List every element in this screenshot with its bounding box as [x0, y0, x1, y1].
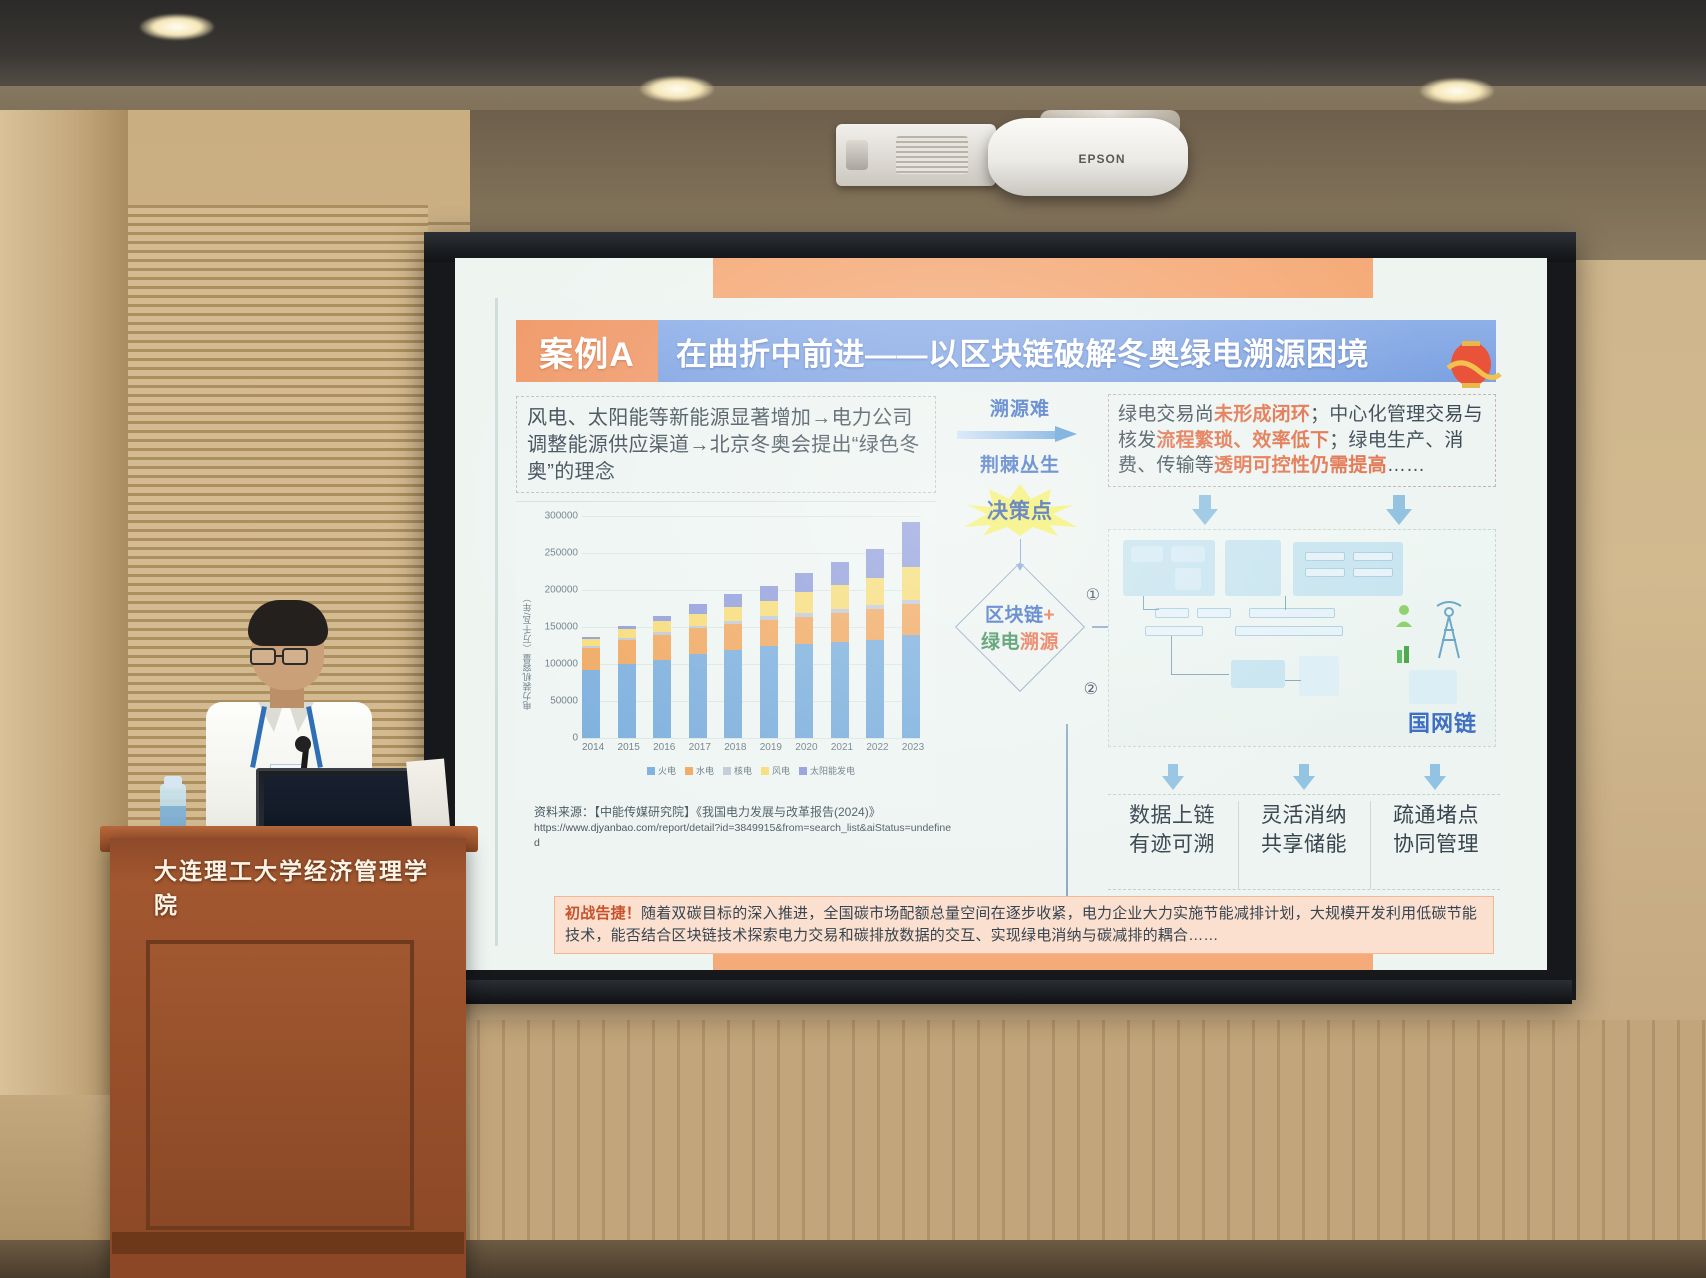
bar-column	[902, 522, 920, 738]
x-tick: 2016	[653, 742, 671, 753]
bar-segment	[902, 567, 920, 600]
outcome-down-arrows	[1108, 764, 1500, 790]
bar-segment	[618, 640, 636, 664]
bar-column	[831, 562, 849, 738]
divider	[1238, 801, 1239, 889]
x-tick: 2018	[724, 742, 742, 753]
legend-label: 核电	[734, 764, 752, 777]
bar-segment	[689, 628, 707, 653]
bar-segment	[760, 601, 778, 617]
podium-base	[112, 1232, 464, 1254]
x-tick: 2020	[795, 742, 813, 753]
blockchain-architecture-diagram: 国网链	[1108, 529, 1496, 747]
problem-statement-box: 绿电交易尚未形成闭环；中心化管理交易与核发流程繁琐、效率低下；绿电生产、消费、传…	[1108, 394, 1496, 487]
projector-brand-label: EPSON	[1072, 152, 1132, 166]
x-tick: 2019	[760, 742, 778, 753]
branch-number-2: ②	[1084, 679, 1098, 699]
diamond-blockchain-text: 区块链	[985, 605, 1044, 626]
bar-segment	[902, 604, 920, 635]
y-tick: 300000	[545, 511, 578, 522]
legend-item: 水电	[685, 764, 714, 777]
decision-point-star: 决策点	[953, 483, 1087, 537]
bar-segment	[689, 614, 707, 626]
outcome-line-2: 共享储能	[1240, 830, 1368, 859]
bar-column	[760, 586, 778, 738]
diamond-green-power-text: 绿电	[981, 632, 1020, 653]
arrow-down-icon	[1192, 495, 1218, 525]
diamond-line-1: 区块链+	[985, 600, 1055, 627]
bar-segment	[689, 654, 707, 738]
bar-segment	[582, 648, 600, 670]
legend-item: 太阳能发电	[799, 764, 855, 777]
bar-segment	[902, 522, 920, 567]
flow-label-trace-difficulty: 溯源难	[946, 394, 1094, 421]
footer-highlight-note: 初战告捷！随着双碳目标的深入推进，全国碳市场配额总量空间在逐步收紧，电力企业大力…	[554, 896, 1494, 954]
diagram-block	[1409, 670, 1457, 704]
problem-highlight-a: 未形成闭环	[1214, 404, 1310, 425]
legend-label: 火电	[658, 764, 676, 777]
state-grid-chain-label: 国网链	[1408, 706, 1477, 738]
diamond-plus: +	[1043, 605, 1055, 626]
arrow-down-icon	[1162, 764, 1184, 790]
footer-body: 随着双碳目标的深入推进，全国碳市场配额总量空间在逐步收紧，电力企业大力实施节能减…	[565, 905, 1477, 944]
bar-segment	[582, 639, 600, 646]
source-line-1: 资料来源：【中能传媒研究院】《我国电力发展与改革报告(2024)》	[534, 804, 954, 821]
x-tick: 2023	[902, 742, 920, 753]
outcome-line-1: 疏通堵点	[1372, 801, 1500, 830]
bar-segment	[724, 607, 742, 621]
slide-right-column: 绿电交易尚未形成闭环；中心化管理交易与核发流程繁琐、效率低下；绿电生产、消费、传…	[1108, 394, 1496, 747]
source-line-2: https://www.djyanbao.com/report/detail?i…	[534, 821, 954, 851]
bar-segment	[724, 624, 742, 650]
power-capacity-chart: 电力装机容量（万千瓦/年） 300000 250000 200000	[516, 501, 936, 801]
eyeglasses-left-lens	[250, 648, 276, 665]
outcome-cell: 疏通堵点 协同管理	[1372, 801, 1500, 889]
y-tick: 250000	[545, 548, 578, 559]
outcome-line-2: 协同管理	[1372, 830, 1500, 859]
legend-item: 火电	[647, 764, 676, 777]
bar-column	[582, 637, 600, 738]
outcome-cell: 数据上链 有迹可溯	[1108, 801, 1236, 889]
bar-segment	[582, 670, 600, 738]
bar-column	[795, 573, 813, 738]
bottle-cap	[164, 776, 182, 788]
bar-segment	[866, 640, 884, 738]
chart-legend: 火电水电核电风电太阳能发电	[582, 764, 920, 777]
diagram-block	[1131, 546, 1163, 562]
y-tick: 200000	[545, 585, 578, 596]
bar-segment	[760, 646, 778, 738]
slide-title: 在曲折中前进——以区块链破解冬奥绿电溯源困境	[658, 320, 1496, 382]
legend-swatch	[685, 767, 693, 775]
arrow-down-icon	[1293, 764, 1315, 790]
outcome-line-1: 灵活消纳	[1240, 801, 1368, 830]
bar-segment	[653, 621, 671, 632]
projection-screen: 案例A 在曲折中前进——以区块链破解冬奥绿电溯源困境 风电、太阳能等新能源显著增…	[455, 258, 1547, 970]
bar-segment	[724, 650, 742, 738]
x-tick: 2022	[866, 742, 884, 753]
y-tick: 50000	[550, 696, 578, 707]
y-tick: 0	[572, 733, 578, 744]
bar-segment	[902, 635, 920, 738]
bar-column	[866, 549, 884, 738]
user-icon	[1395, 604, 1411, 626]
slide-left-column: 风电、太阳能等新能源显著增加→电力公司调整能源供应渠道→北京冬奥会提出“绿色冬奥…	[516, 396, 936, 801]
bar-segment	[866, 549, 884, 578]
bar-column	[689, 604, 707, 738]
conference-room-photo: EPSON 案例A 在曲折中前进——以区块链破解冬奥绿电溯源困境	[0, 0, 1706, 1278]
lantern-decoration	[1440, 338, 1502, 402]
diagram-block	[1299, 656, 1339, 696]
diamond-trace-text: 溯源	[1020, 632, 1059, 653]
decision-point-label: 决策点	[987, 495, 1053, 525]
problem-highlight-b: 流程繁琐、效率低下	[1156, 430, 1329, 451]
diagram-block	[1175, 568, 1201, 590]
projector-lens	[846, 140, 868, 170]
y-tick: 150000	[545, 622, 578, 633]
x-tick: 2021	[831, 742, 849, 753]
bar-segment	[724, 594, 742, 607]
legend-item: 风电	[761, 764, 790, 777]
arrow-down-icon	[1386, 495, 1412, 525]
y-tick: 100000	[545, 659, 578, 670]
chart-plot-area: 300000 250000 200000 150000 100000 50000…	[582, 516, 920, 738]
ceiling-light	[640, 76, 714, 102]
bar-segment	[653, 635, 671, 660]
diamond-line-2: 绿电溯源	[981, 627, 1059, 654]
diagram-block	[1171, 546, 1205, 562]
source-citation: 资料来源：【中能传媒研究院】《我国电力发展与改革报告(2024)》 https:…	[534, 804, 954, 851]
ceiling-light	[1420, 78, 1494, 104]
presentation-slide: 案例A 在曲折中前进——以区块链破解冬奥绿电溯源困境 风电、太阳能等新能源显著增…	[455, 258, 1547, 970]
arrow-down-icon	[1424, 764, 1446, 790]
x-tick: 2014	[582, 742, 600, 753]
problem-highlight-c: 透明可控性仍需提高	[1214, 455, 1387, 476]
bar-column	[653, 616, 671, 738]
microphone-head	[295, 736, 311, 752]
eyeglasses-right-lens	[282, 648, 308, 665]
ceiling-light	[140, 14, 214, 40]
bar-segment	[831, 562, 849, 585]
intro-text-box: 风电、太阳能等新能源显著增加→电力公司调整能源供应渠道→北京冬奥会提出“绿色冬奥…	[516, 396, 936, 493]
legend-swatch	[647, 767, 655, 775]
divider	[1370, 801, 1371, 889]
legend-label: 太阳能发电	[810, 764, 855, 777]
bar-segment	[618, 629, 636, 639]
legend-swatch	[799, 767, 807, 775]
outcome-line-1: 数据上链	[1108, 801, 1236, 830]
diagram-block	[1225, 540, 1281, 596]
bar-segment	[689, 604, 707, 614]
bottle-label	[160, 806, 186, 826]
factory-icon	[1395, 642, 1411, 664]
diagram-block	[1231, 660, 1285, 688]
bar-segment	[866, 609, 884, 640]
bar-segment	[831, 613, 849, 642]
antenna-tower-icon	[1427, 600, 1471, 665]
bar-segment	[795, 592, 813, 613]
flow-right-arrow-icon	[957, 427, 1083, 442]
outcome-cell: 灵活消纳 共享储能	[1240, 801, 1368, 889]
legend-label: 水电	[696, 764, 714, 777]
problem-text-d: ……	[1387, 455, 1425, 476]
bar-segment	[866, 578, 884, 605]
decision-diamond: 区块链+ 绿电溯源 ① ②	[946, 571, 1094, 683]
outcomes-row: 数据上链 有迹可溯 灵活消纳 共享储能 疏通堵点 协同管理	[1108, 794, 1500, 890]
legend-swatch	[761, 767, 769, 775]
slide-middle-flow: 溯源难 荆棘丛生 决策点 区块	[946, 394, 1094, 794]
outcome-line-2: 有迹可溯	[1108, 830, 1236, 859]
footer-lead: 初战告捷！	[565, 905, 641, 922]
bar-segment	[653, 660, 671, 738]
bar-segment	[831, 585, 849, 609]
case-tag: 案例A	[516, 320, 658, 382]
legend-swatch	[723, 767, 731, 775]
bar-column	[724, 594, 742, 738]
eyeglasses-bridge	[276, 655, 284, 657]
bar-segment	[795, 617, 813, 644]
down-arrows-row	[1108, 495, 1496, 525]
screen-bottom-bar	[452, 980, 1572, 1004]
bar-column	[618, 626, 636, 738]
bar-segment	[795, 644, 813, 738]
chart-bars	[582, 516, 920, 738]
chart-y-axis-label: 电力装机容量（万千瓦/年）	[518, 546, 536, 756]
speaker-hair	[248, 600, 328, 646]
projector-vent	[896, 136, 968, 174]
legend-label: 风电	[772, 764, 790, 777]
x-tick: 2017	[689, 742, 707, 753]
bar-segment	[831, 642, 849, 738]
x-tick: 2015	[618, 742, 636, 753]
legend-item: 核电	[723, 764, 752, 777]
flow-label-thorny: 荆棘丛生	[946, 450, 1094, 477]
bar-segment	[760, 586, 778, 601]
bar-segment	[618, 664, 636, 738]
podium-plaque: 大连理工大学经济管理学院	[126, 862, 446, 910]
slide-content-area: 案例A 在曲折中前进——以区块链破解冬奥绿电溯源困境 风电、太阳能等新能源显著增…	[495, 298, 1507, 946]
bar-segment	[760, 620, 778, 646]
connector-branch-2-vertical	[1066, 724, 1068, 902]
chart-x-axis: 2014201520162017201820192020202120222023	[582, 742, 920, 753]
branch-number-1: ①	[1086, 585, 1100, 605]
problem-text-a: 绿电交易尚	[1118, 404, 1214, 425]
podium-front-panel	[146, 940, 414, 1230]
bar-segment	[795, 573, 813, 592]
slide-title-row: 案例A 在曲折中前进——以区块链破解冬奥绿电溯源困境	[516, 320, 1496, 382]
slide-top-accent-bar	[713, 258, 1373, 298]
